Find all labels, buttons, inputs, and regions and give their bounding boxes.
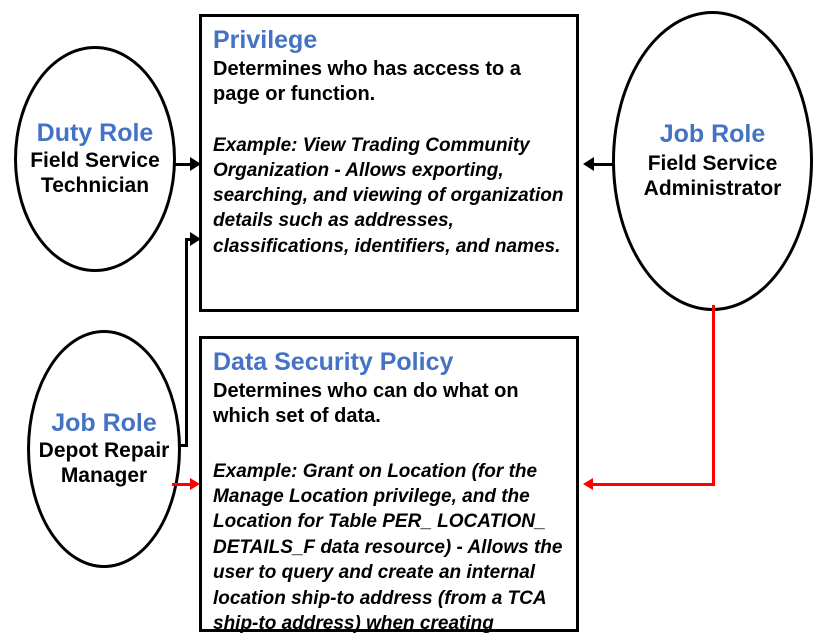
job-role-depot-type-label: Job Role	[51, 409, 157, 439]
privilege-description: Determines who has access to a page or f…	[213, 57, 564, 107]
data-security-policy-example: Example: Grant on Location (for the Mana…	[213, 459, 564, 641]
duty-role-type-label: Duty Role	[37, 119, 154, 149]
node-job-role-field-service-administrator[interactable]: Job Role Field Service Administrator	[612, 11, 813, 311]
connector-admin-to-dsp-vertical	[712, 305, 715, 485]
node-job-role-depot-repair-manager[interactable]: Job Role Depot Repair Manager	[27, 330, 181, 568]
privilege-example: Example: View Trading Community Organiza…	[213, 133, 564, 259]
node-data-security-policy-box[interactable]: Data Security Policy Determines who can …	[199, 336, 579, 632]
node-privilege-box[interactable]: Privilege Determines who has access to a…	[199, 14, 579, 312]
arrowhead-admin-to-privilege	[583, 157, 594, 171]
arrowhead-depot-to-dsp	[190, 478, 200, 490]
data-security-policy-description: Determines who can do what on which set …	[213, 379, 564, 429]
connector-admin-to-dsp-horizontal	[592, 483, 715, 486]
connector-depot-to-privilege-vertical	[185, 238, 188, 447]
job-role-admin-type-label: Job Role	[660, 120, 766, 150]
job-role-admin-name-label: Field Service Administrator	[615, 152, 810, 202]
privilege-title: Privilege	[213, 26, 564, 56]
diagram-canvas: Duty Role Field Service Technician Job R…	[0, 0, 828, 641]
data-security-policy-title: Data Security Policy	[213, 348, 564, 378]
arrowhead-duty-role-to-privilege	[190, 157, 201, 171]
arrowhead-depot-to-privilege	[190, 232, 201, 246]
arrowhead-admin-to-dsp	[583, 478, 593, 490]
duty-role-name-label: Field Service Technician	[17, 149, 173, 199]
job-role-depot-name-label: Depot Repair Manager	[30, 439, 178, 489]
node-duty-role[interactable]: Duty Role Field Service Technician	[14, 46, 176, 272]
